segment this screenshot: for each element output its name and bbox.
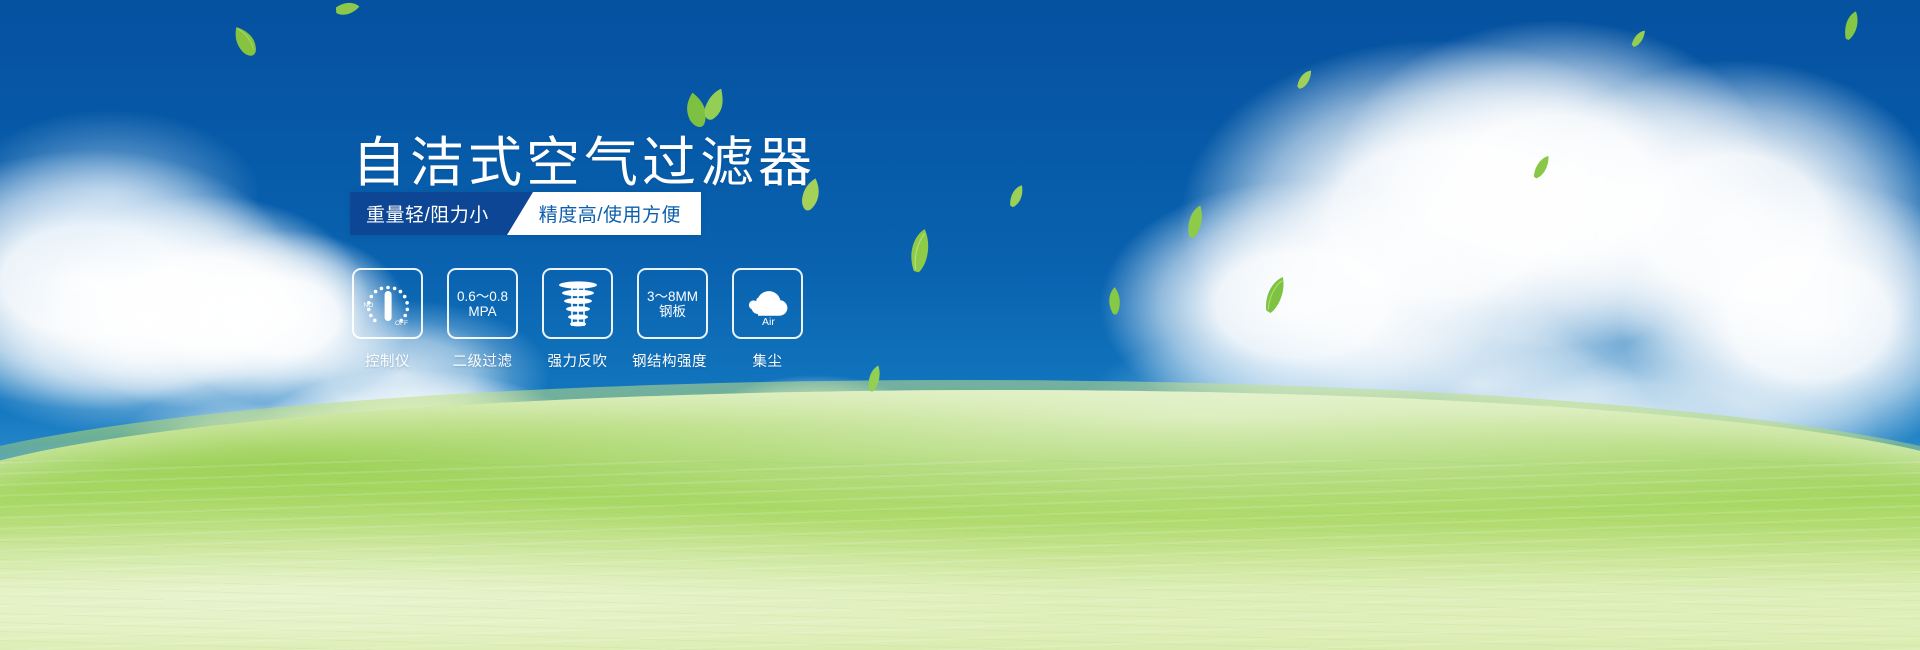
tagline-left: 重量轻/阻力小 — [350, 192, 507, 235]
feature-item-pressure: 0.6～0.8 MPA 二级过滤 — [447, 268, 518, 371]
feature-icon-text: 0.6～0.8 MPA — [457, 289, 508, 319]
feature-icon-text: 3～8MM 钢板 — [647, 289, 698, 319]
feature-icon-box: 0.6～0.8 MPA — [447, 268, 518, 339]
feature-item-backflush: 强力反吹 — [542, 268, 613, 371]
gauge-label-on: NO — [363, 302, 373, 309]
air-cloud-icon: Air — [740, 278, 796, 330]
feature-item-steel: 3～8MM 钢板 钢结构强度 — [637, 268, 708, 371]
page-title: 自洁式空气过滤器 — [352, 118, 816, 197]
feature-item-dust: Air 集尘 — [732, 268, 803, 371]
feature-icon-box: 3～8MM 钢板 — [637, 268, 708, 339]
feature-item-control: NO OFF 控制仪 — [352, 268, 423, 371]
feature-caption: 集尘 — [732, 350, 803, 371]
feature-caption: 控制仪 — [352, 350, 423, 371]
banner-content: 自洁式空气过滤器 重量轻/阻力小 精度高/使用方便 — [0, 0, 1920, 650]
tagline-wedge — [507, 192, 533, 235]
tagline-badge: 重量轻/阻力小 精度高/使用方便 — [350, 192, 701, 235]
feature-caption: 强力反吹 — [542, 350, 613, 371]
feature-list: NO OFF 控制仪 0.6～0.8 MPA 二级过滤 — [352, 268, 803, 371]
feature-caption: 钢结构强度 — [631, 350, 708, 371]
feature-caption: 二级过滤 — [447, 350, 518, 371]
product-banner: 自洁式空气过滤器 重量轻/阻力小 精度高/使用方便 — [0, 0, 1920, 650]
tagline-right: 精度高/使用方便 — [533, 192, 701, 235]
gauge-label-off: OFF — [395, 320, 408, 327]
filter-coil-icon — [555, 278, 601, 330]
feature-icon-box: NO OFF — [352, 268, 423, 339]
air-label: Air — [762, 316, 775, 328]
feature-icon-box: Air — [732, 268, 803, 339]
feature-icon-box — [542, 268, 613, 339]
control-gauge-icon: NO OFF — [362, 278, 414, 330]
